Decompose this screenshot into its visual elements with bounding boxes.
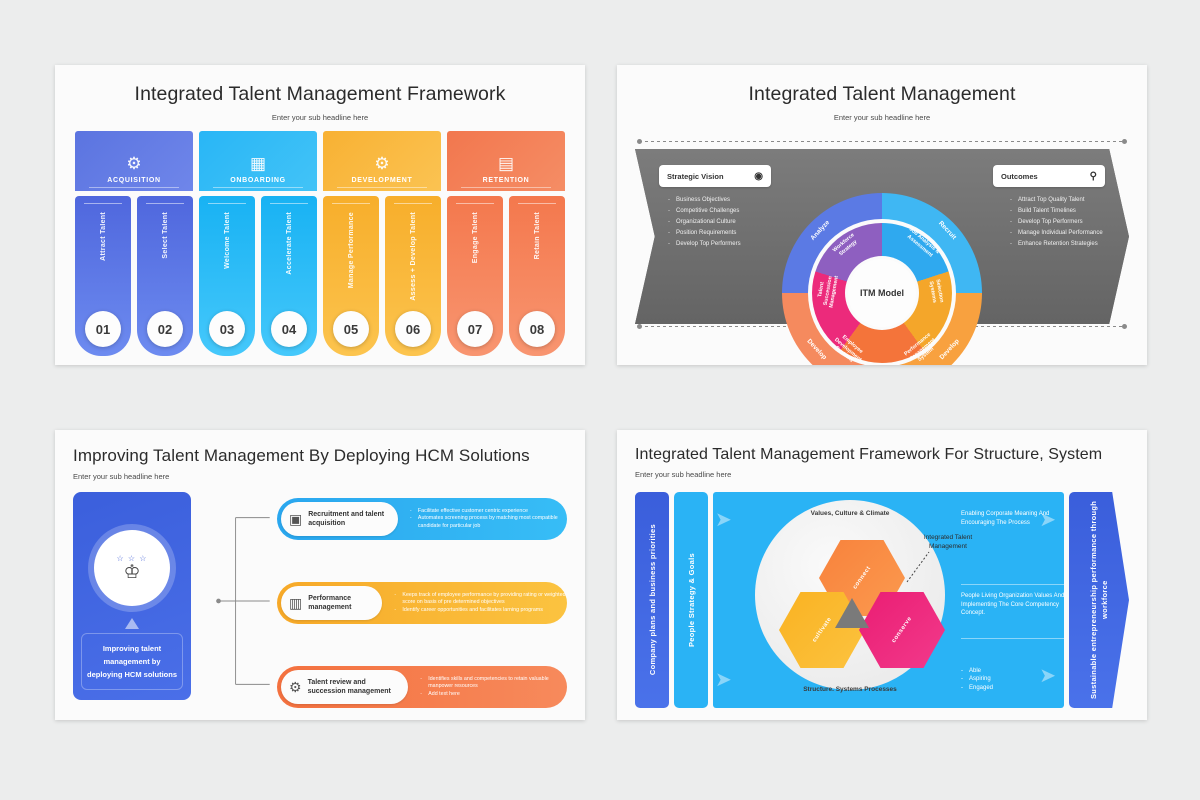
slide4-subtitle: Enter your sub headline here [617, 464, 1147, 479]
itm-model-donut-chart[interactable]: ITM Model Analyze Recruit Develop Develo… [782, 193, 982, 365]
chevron-right-icon: ➤ [715, 670, 732, 690]
target-search-icon: ⚲ [1090, 171, 1097, 182]
shield-box-icon: ▤ [498, 155, 514, 172]
list-item: Attract Top Quality Talent [1009, 195, 1121, 206]
step-label: Manage Performance [347, 212, 356, 288]
strategic-vision-bullets: Business Objectives Competitive Challeng… [667, 195, 741, 250]
slide3-title: Improving Talent Management By Deploying… [55, 430, 585, 466]
list-item: Develop Top Performers [667, 239, 741, 250]
list-item: Facilitate effective customer centric ex… [410, 508, 567, 516]
row-caption: ▣ Recruitment and talent acquisition [281, 502, 398, 536]
row-bullets: Keeps track of employee performance by p… [394, 592, 567, 615]
category-label: ACQUISITION [107, 177, 161, 184]
step-number: 03 [209, 311, 245, 347]
step-number: 06 [395, 311, 431, 347]
step-label: Assess + Develop Talent [409, 212, 418, 301]
step-number: 07 [457, 311, 493, 347]
slide-improving-talent-management[interactable]: Improving Talent Management By Deploying… [55, 430, 585, 720]
step-card-01[interactable]: Attract Talent 01 [75, 196, 131, 356]
step-card-03[interactable]: Welcome Talent 03 [199, 196, 255, 356]
chevron-right-icon: ➤ [1039, 666, 1056, 686]
itm-model-center-label: ITM Model [848, 259, 916, 327]
callout-integrated-talent-management: Integrated Talent Management [919, 534, 977, 551]
slide2-subtitle: Enter your sub headline here [617, 106, 1147, 122]
hexagon-label: conserve [891, 616, 913, 644]
slide1-title: Integrated Talent Management Framework [55, 65, 585, 106]
slide-grid: Integrated Talent Management Framework E… [0, 0, 1200, 800]
slide1-card-row: ⚙ ACQUISITION Attract Talent 01 Select T… [75, 131, 565, 356]
list-item: Able [961, 667, 993, 676]
up-arrow-icon [125, 618, 139, 629]
banner-company-plans[interactable]: Company plans and business priorities [635, 492, 669, 708]
step-pair: Manage Performance 05 Assess + Develop T… [323, 196, 441, 356]
outcomes-box[interactable]: Outcomes ⚲ [993, 165, 1105, 187]
step-number: 04 [271, 311, 307, 347]
step-pair: Welcome Talent 03 Accelerate Talent 04 [199, 196, 317, 356]
divider [961, 584, 1064, 585]
category-label: ONBOARDING [230, 177, 286, 184]
slide3-side-label: Improving talent management by deploying… [81, 633, 183, 690]
list-item: Position Requirements [667, 228, 741, 239]
slide2-title: Integrated Talent Management [617, 65, 1147, 106]
step-card-02[interactable]: Select Talent 02 [137, 196, 193, 356]
step-number: 02 [147, 311, 183, 347]
award-person-icon: ☆ ☆ ☆ ♔ [94, 530, 170, 606]
outcomes-label: Outcomes [1001, 172, 1038, 181]
list-item: Identify career opportunities and facili… [394, 607, 567, 615]
slide4-title: Integrated Talent Management Framework F… [617, 430, 1147, 464]
step-label: Accelerate Talent [285, 212, 294, 275]
row-caption: ▥ Performance management [281, 586, 382, 620]
category-group-acquisition: ⚙ ACQUISITION Attract Talent 01 Select T… [75, 131, 193, 356]
step-label: Retain Talent [533, 212, 542, 259]
list-item: Add text here [420, 691, 567, 699]
step-card-05[interactable]: Manage Performance 05 [323, 196, 379, 356]
slide4-body: Company plans and business priorities Pe… [635, 492, 1129, 708]
category-label: RETENTION [483, 177, 530, 184]
category-group-development: ⚙ DEVELOPMENT Manage Performance 05 Asse… [323, 131, 441, 356]
step-pair: Engage Talent 07 Retain Talent 08 [447, 196, 565, 356]
slide-integrated-talent-management-framework[interactable]: Integrated Talent Management Framework E… [55, 65, 585, 365]
connector-lines [215, 492, 277, 710]
category-header-retention[interactable]: ▤ RETENTION [447, 131, 565, 191]
row-bullets: Facilitate effective customer centric ex… [410, 508, 567, 531]
solution-row-talent-review[interactable]: ⚙ Talent review and succession managemen… [277, 666, 567, 708]
category-group-retention: ▤ RETENTION Engage Talent 07 Retain Tale… [447, 131, 565, 356]
hexagon-label: cultivate [811, 616, 832, 643]
category-group-onboarding: ▦ ONBOARDING Welcome Talent 03 Accelerat… [199, 131, 317, 356]
list-item: Automates screening process by matching … [410, 515, 567, 530]
banner-label: Sustainable entrepreneurship performance… [1088, 492, 1110, 708]
category-header-development[interactable]: ⚙ DEVELOPMENT [323, 131, 441, 191]
banner-people-strategy[interactable]: People Strategy & Goals [674, 492, 708, 708]
recruitment-icon: ▣ [289, 511, 302, 528]
list-item: Identifies skills and competencies to re… [420, 676, 567, 691]
list-item: Engaged [961, 684, 993, 693]
list-item: Aspiring [961, 675, 993, 684]
id-card-icon: ▦ [250, 155, 266, 172]
banner-label: People Strategy & Goals [686, 553, 697, 647]
step-number: 01 [85, 311, 121, 347]
list-item: Competitive Challenges [667, 206, 741, 217]
slide-integrated-talent-management[interactable]: Integrated Talent Management Enter your … [617, 65, 1147, 365]
talent-search-icon: ⚙ [289, 679, 302, 696]
list-item: Business Objectives [667, 195, 741, 206]
row-title: Recruitment and talent acquisition [308, 510, 390, 528]
circle-top-label: Values, Culture & Climate [785, 510, 915, 519]
solution-row-recruitment[interactable]: ▣ Recruitment and talent acquisition Fac… [277, 498, 567, 540]
banner-sustainable-performance[interactable]: Sustainable entrepreneurship performance… [1069, 492, 1129, 708]
step-label: Welcome Talent [223, 212, 232, 269]
list-item: Organizational Culture [667, 217, 741, 228]
performance-chart-icon: ▥ [289, 595, 302, 612]
list-item: Keeps track of employee performance by p… [394, 592, 567, 607]
slide3-subtitle: Enter your sub headline here [55, 466, 585, 481]
globe-network-icon: ◉ [754, 171, 763, 182]
step-label: Attract Talent [99, 212, 108, 261]
row-title: Talent review and succession management [308, 678, 401, 696]
slide3-left-panel[interactable]: ☆ ☆ ☆ ♔ Improving talent management by d… [73, 492, 191, 700]
row-caption: ⚙ Talent review and succession managemen… [281, 670, 408, 704]
slide4-bullets: Able Aspiring Engaged [961, 667, 993, 693]
hexagon-label: connect [852, 565, 872, 590]
list-item: Enhance Retention Strategies [1009, 239, 1121, 250]
text-block-enabling: Enabling Corporate Meaning And Encouragi… [961, 510, 1064, 527]
list-item: Manage Individual Performance [1009, 228, 1121, 239]
strategic-vision-label: Strategic Vision [667, 172, 724, 181]
slide-framework-structure-system[interactable]: Integrated Talent Management Framework F… [617, 430, 1147, 720]
text-block-people-living: People Living Organization Values And Im… [961, 592, 1064, 618]
top-dashed-rule [639, 141, 1125, 142]
step-card-08[interactable]: Retain Talent 08 [509, 196, 565, 356]
row-bullets: Identifies skills and competencies to re… [420, 676, 567, 699]
category-header-acquisition[interactable]: ⚙ ACQUISITION [75, 131, 193, 191]
divider [961, 638, 1064, 639]
list-item: Develop Top Performers [1009, 217, 1121, 228]
circle-bottom-label: Structure. Systems Processes [785, 686, 915, 695]
step-card-04[interactable]: Accelerate Talent 04 [261, 196, 317, 356]
gear-chart-icon: ⚙ [374, 155, 389, 172]
step-label: Engage Talent [471, 212, 480, 263]
slide1-subtitle: Enter your sub headline here [55, 106, 585, 122]
row-title: Performance management [308, 594, 374, 612]
category-header-onboarding[interactable]: ▦ ONBOARDING [199, 131, 317, 191]
category-label: DEVELOPMENT [352, 177, 413, 184]
step-label: Select Talent [161, 212, 170, 259]
chevron-right-icon: ➤ [715, 510, 732, 530]
strategic-vision-box[interactable]: Strategic Vision ◉ [659, 165, 771, 187]
callout-leader-line [905, 548, 935, 584]
step-number: 08 [519, 311, 555, 347]
step-card-07[interactable]: Engage Talent 07 [447, 196, 503, 356]
magnet-people-icon: ⚙ [126, 155, 141, 172]
step-card-06[interactable]: Assess + Develop Talent 06 [385, 196, 441, 356]
step-number: 05 [333, 311, 369, 347]
banner-label: Company plans and business priorities [647, 524, 658, 675]
list-item: Build Talent Timelines [1009, 206, 1121, 217]
slide4-center-panel[interactable]: ➤ ➤ ➤ ➤ Values, Culture & Climate Struct… [713, 492, 1064, 708]
slide3-rows: ▣ Recruitment and talent acquisition Fac… [215, 492, 567, 710]
outcomes-bullets: Attract Top Quality Talent Build Talent … [1009, 195, 1121, 250]
solution-row-performance[interactable]: ▥ Performance management Keeps track of … [277, 582, 567, 624]
step-pair: Attract Talent 01 Select Talent 02 [75, 196, 193, 356]
